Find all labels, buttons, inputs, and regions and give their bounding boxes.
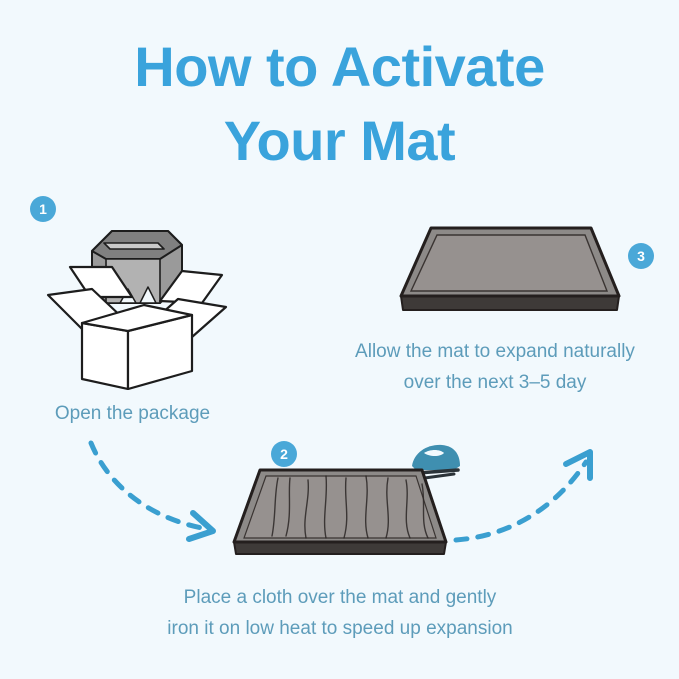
step-caption-3-line-1: Allow the mat to expand naturally: [355, 341, 635, 362]
step-caption-1: Open the package: [0, 398, 265, 429]
cardboard-box-icon: [40, 215, 235, 390]
dashed-curved-arrow-up-right: [450, 440, 610, 550]
page-title-line-1: How to Activate: [0, 30, 679, 104]
step-caption-2-line-1: Place a cloth over the mat and gently: [184, 587, 497, 608]
infographic-canvas: How to Activate Your Mat 1: [0, 0, 679, 679]
page-title-line-2: Your Mat: [0, 104, 679, 178]
step-caption-3-line-2: over the next 3–5 day: [404, 372, 587, 393]
page-title: How to Activate Your Mat: [0, 30, 679, 178]
mat-icon: [395, 220, 625, 325]
step-caption-3: Allow the mat to expand naturally over t…: [320, 336, 670, 398]
mat-icon: [230, 460, 450, 570]
step-caption-2-line-2: iron it on low heat to speed up expansio…: [167, 618, 512, 639]
step-badge-3: 3: [628, 243, 654, 269]
step-caption-1-line-1: Open the package: [55, 403, 210, 424]
step-caption-2: Place a cloth over the mat and gently ir…: [110, 582, 570, 644]
